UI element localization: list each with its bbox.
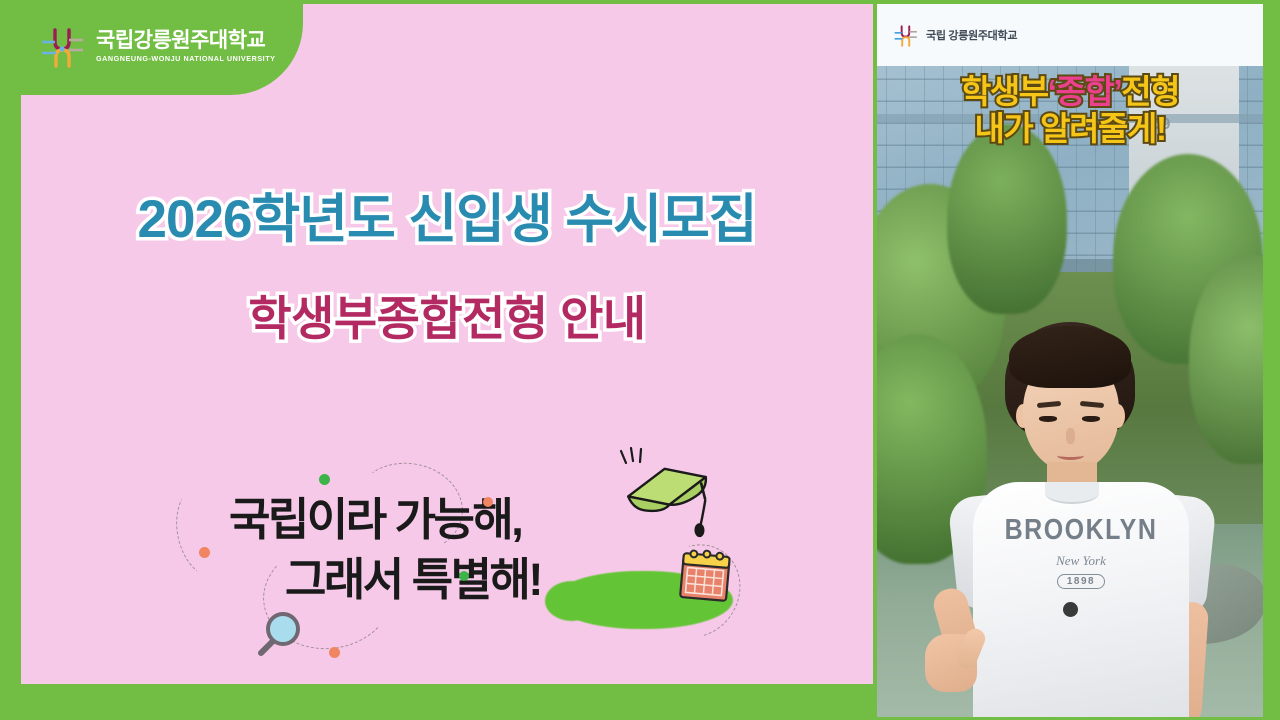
shirt-print: BROOKLYN New York 1898 bbox=[1003, 516, 1159, 608]
magnifier-icon bbox=[249, 607, 305, 663]
calendar-icon bbox=[677, 547, 733, 605]
presenter-nose bbox=[1066, 428, 1075, 444]
shirt-print-main: BROOKLYN bbox=[1003, 514, 1159, 547]
slogan-line-1: 국립이라 가능해, bbox=[229, 483, 521, 548]
slogan-block: 국립이라 가능해, 그래서 특별해! bbox=[181, 459, 741, 649]
video-overlay-title-line-2: 내가 알려줄게! bbox=[877, 111, 1263, 148]
shirt-print-sub: New York bbox=[1003, 553, 1159, 569]
gwnu-logo-mark-icon bbox=[39, 22, 87, 70]
video-overlay-title-line-1: 학생부‘종합’전형 bbox=[877, 74, 1263, 111]
presenter-fringe bbox=[1009, 326, 1131, 388]
university-header-tab: 국립강릉원주대학교 GANGNEUNG-WONJU NATIONAL UNIVE… bbox=[21, 4, 303, 95]
presenter-mouth bbox=[1057, 451, 1084, 460]
gwnu-logo-mark-icon bbox=[893, 22, 919, 48]
university-name-ko: 국립강릉원주대학교 bbox=[96, 30, 276, 51]
video-topbar: 국립 강릉원주대학교 bbox=[877, 4, 1263, 66]
university-name-block: 국립강릉원주대학교 GANGNEUNG-WONJU NATIONAL UNIVE… bbox=[96, 30, 276, 62]
presenter-eye-right bbox=[1082, 416, 1100, 422]
university-branding: 국립강릉원주대학교 GANGNEUNG-WONJU NATIONAL UNIVE… bbox=[39, 22, 276, 70]
video-title-post: 전형 bbox=[1121, 73, 1179, 110]
graduation-cap-icon bbox=[613, 447, 721, 543]
content-panel: 국립강릉원주대학교 GANGNEUNG-WONJU NATIONAL UNIVE… bbox=[21, 4, 873, 684]
dot-orange-1 bbox=[199, 547, 210, 558]
presenter-collar bbox=[1045, 482, 1099, 504]
dot-green-2 bbox=[459, 571, 469, 581]
university-name-en: GANGNEUNG-WONJU NATIONAL UNIVERSITY bbox=[96, 55, 276, 62]
video-title-accent: ‘종합’ bbox=[1048, 73, 1121, 110]
video-title-pre: 학생부 bbox=[961, 73, 1048, 110]
poster-frame: 국립강릉원주대학교 GANGNEUNG-WONJU NATIONAL UNIVE… bbox=[0, 0, 1280, 720]
dot-orange-2 bbox=[483, 497, 493, 507]
shirt-print-year: 1898 bbox=[1057, 574, 1105, 589]
dot-orange-3 bbox=[329, 647, 340, 658]
presenter-eye-left bbox=[1039, 416, 1057, 422]
right-green-strip bbox=[1263, 0, 1280, 720]
video-presenter-panel[interactable]: C9 bbox=[877, 4, 1263, 717]
page-subtitle: 학생부종합전형 안내 bbox=[21, 280, 873, 349]
slogan-line-2: 그래서 특별해! bbox=[285, 543, 541, 608]
dot-green-1 bbox=[319, 474, 330, 485]
video-topbar-label: 국립 강릉원주대학교 bbox=[926, 27, 1017, 43]
page-title: 2026학년도 신입생 수시모집 bbox=[21, 177, 873, 253]
video-overlay-title: 학생부‘종합’전형 내가 알려줄게! bbox=[877, 74, 1263, 148]
